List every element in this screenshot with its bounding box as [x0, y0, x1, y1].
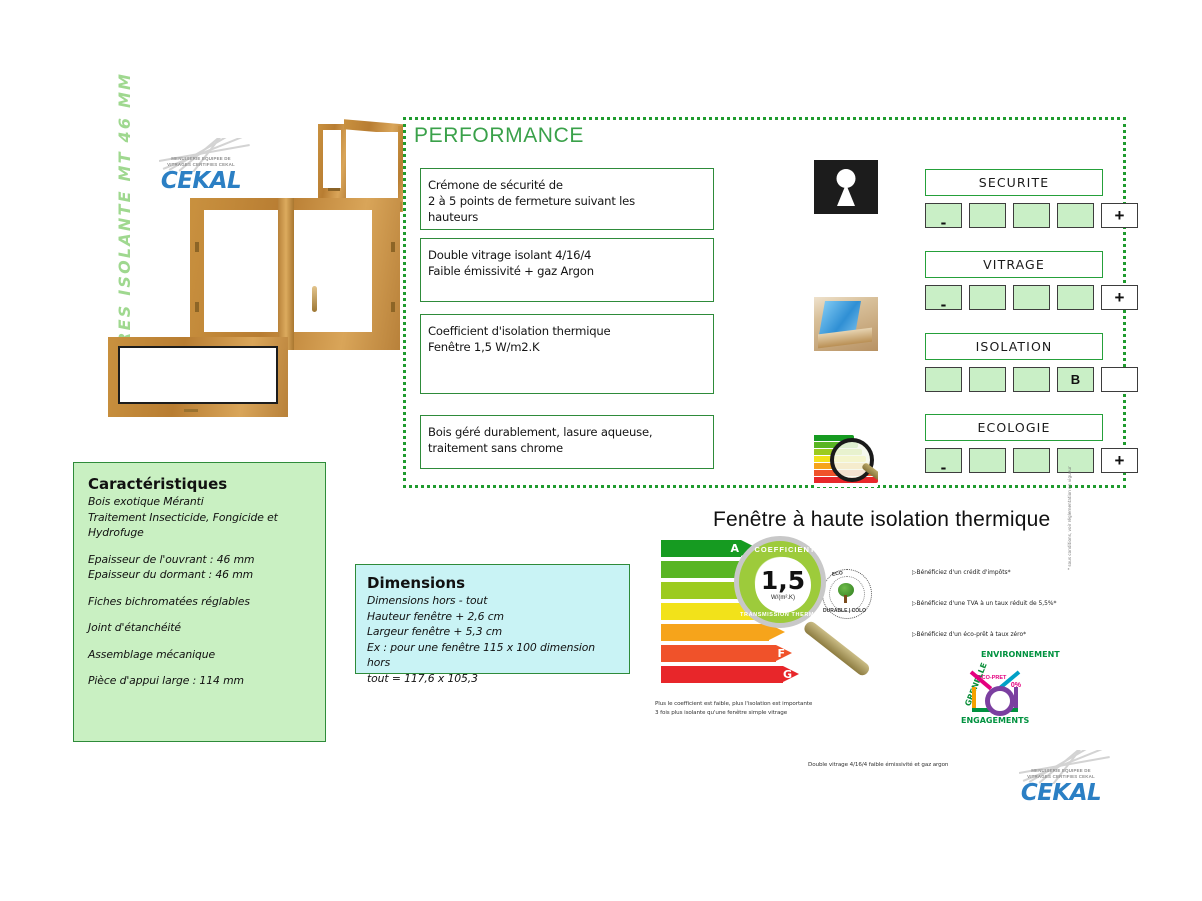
- rating-cell-grade-b[interactable]: B: [1057, 367, 1094, 392]
- energy-footnote-line2: 3 fois plus isolante qu'une fenêtre simp…: [655, 709, 905, 718]
- rating-cell[interactable]: [969, 367, 1006, 392]
- cekal-subtitle-line1: MENUISERIE EQUIPEE DE: [1031, 768, 1091, 773]
- dimensions-line: Hauteur fenêtre + 2,6 cm: [367, 609, 618, 625]
- rating-label-isolation: ISOLATION: [925, 333, 1103, 360]
- rating-cells-vitrage: - +: [925, 285, 1138, 310]
- perf-text-line: Coefficient d'isolation thermique: [428, 323, 707, 339]
- rating-cell[interactable]: [1057, 448, 1094, 473]
- coefficient-magnifier: COEFFICIENT TRANSMISSION THERMIQUE 1,5 W…: [734, 536, 826, 628]
- glazing-note: Double vitrage 4/16/4 faible émissivité …: [808, 762, 948, 768]
- perf-text-line: Double vitrage isolant 4/16/4: [428, 247, 707, 263]
- benefit-label: Bénéficiez d'un éco-prêt à taux zéro*: [917, 632, 1027, 638]
- rating-cell-plus[interactable]: +: [1101, 448, 1138, 473]
- benefit-item-eco-pret: ▷Bénéficiez d'un éco-prêt à taux zéro*: [912, 632, 1026, 638]
- caracteristiques-line: Hydrofuge: [88, 525, 311, 541]
- rating-cell[interactable]: [925, 367, 962, 392]
- energy-footnote: Plus le coefficient est faible, plus l'i…: [655, 700, 905, 718]
- cekal-wordmark: CEKAL: [1013, 780, 1109, 806]
- energy-arrow-e: [661, 624, 785, 641]
- perf-text-line: traitement sans chrome: [428, 440, 707, 456]
- window-glazing-icon: [814, 297, 878, 351]
- energy-footnote-line1: Plus le coefficient est faible, plus l'i…: [655, 700, 905, 709]
- eco-pret-percent: 0%: [1011, 682, 1021, 689]
- magnifier-handle-icon: [802, 619, 871, 677]
- energy-letter: F: [777, 645, 785, 662]
- cekal-subtitle-line2: VITRAGES CERTIFIES CEKAL: [1027, 774, 1095, 779]
- energy-magnifier-icon: [814, 433, 878, 487]
- caracteristiques-line: Epaisseur du dormant : 46 mm: [88, 567, 311, 583]
- rating-label-ecologie: ECOLOGIE: [925, 414, 1103, 441]
- perf-text-line: Fenêtre 1,5 W/m2.K: [428, 339, 707, 355]
- rating-cells-ecologie: - +: [925, 448, 1138, 473]
- benefit-item-tva: ▷Bénéficiez d'une TVA à un taux réduit d…: [912, 601, 1056, 607]
- rating-cell[interactable]: [1057, 203, 1094, 228]
- rating-cell-minus[interactable]: -: [925, 448, 962, 473]
- promo-title: Fenêtre à haute isolation thermique: [713, 508, 1050, 532]
- cekal-wordmark: CEKAL: [153, 168, 249, 194]
- benefit-label: Bénéficiez d'une TVA à un taux réduit de…: [917, 601, 1057, 607]
- rating-cell[interactable]: [1013, 367, 1050, 392]
- rating-cell-plus[interactable]: +: [1101, 285, 1138, 310]
- perf-text-line: 2 à 5 points de fermeture suivant les: [428, 193, 707, 209]
- rating-cell[interactable]: [1013, 203, 1050, 228]
- window-main-photo: [190, 198, 400, 350]
- energy-letter: G: [783, 666, 792, 683]
- keyhole-lock-icon: [814, 160, 878, 214]
- caracteristiques-line: Pièce d'appui large : 114 mm: [88, 673, 311, 689]
- caracteristiques-line: Epaisseur de l'ouvrant : 46 mm: [88, 552, 311, 568]
- grenelle-word-bottom: ENGAGEMENTS: [961, 716, 1029, 725]
- perf-text-line: Crémone de sécurité de: [428, 177, 707, 193]
- caracteristiques-panel: Caractéristiques Bois exotique Méranti T…: [73, 462, 326, 742]
- rating-cells-securite: - +: [925, 203, 1138, 228]
- cekal-subtitle-line2: VITRAGES CERTIFIES CEKAL: [167, 162, 235, 167]
- caracteristiques-line: Bois exotique Méranti: [88, 494, 311, 510]
- perf-text-line: Faible émissivité + gaz Argon: [428, 263, 707, 279]
- perf-text-line: hauteurs: [428, 209, 707, 225]
- rating-label-securite: SECURITE: [925, 169, 1103, 196]
- rating-label-vitrage: VITRAGE: [925, 251, 1103, 278]
- dimensions-line: tout = 117,6 x 105,3: [367, 671, 618, 687]
- cekal-subtitle-line1: MENUISERIE EQUIPEE DE: [171, 156, 231, 161]
- window-transom-photo: [108, 337, 288, 417]
- cekal-logo-footer: MENUISERIE EQUIPEE DE VITRAGES CERTIFIES…: [1005, 752, 1113, 810]
- energy-arrow-f: F: [661, 645, 792, 662]
- coefficient-readout: 1,5 W/(m².K): [755, 557, 811, 613]
- performance-title: PERFORMANCE: [414, 124, 584, 148]
- dimensions-line: Dimensions hors - tout: [367, 593, 618, 609]
- eco-pret-label: ECO-PRET: [978, 675, 1006, 681]
- rating-cell[interactable]: [969, 285, 1006, 310]
- energy-arrow-g: G: [661, 666, 799, 683]
- performance-box-bois: Bois géré durablement, lasure aqueuse, t…: [420, 415, 714, 469]
- grenelle-word-right: ENVIRONNEMENT: [981, 650, 1060, 659]
- caracteristiques-line: Joint d'étanchéité: [88, 620, 311, 636]
- rating-cell[interactable]: [1101, 367, 1138, 392]
- lens-arc-top-label: COEFFICIENT: [739, 545, 831, 554]
- coefficient-value: 1,5: [761, 569, 805, 593]
- rating-cell-minus[interactable]: -: [925, 285, 962, 310]
- benefits-side-note: * sous conditions, voir réglementation e…: [1067, 480, 1072, 570]
- rating-cell-minus[interactable]: -: [925, 203, 962, 228]
- dimensions-line: Largeur fenêtre + 5,3 cm: [367, 624, 618, 640]
- slide-canvas: FENETRES ISOLANTE MT 46 MM MENUISERIE EQ…: [0, 0, 1202, 901]
- cekal-logo: MENUISERIE EQUIPEE DE VITRAGES CERTIFIES…: [145, 140, 253, 198]
- perf-text-line: Bois géré durablement, lasure aqueuse,: [428, 424, 707, 440]
- rating-cell[interactable]: [1013, 448, 1050, 473]
- dimensions-title: Dimensions: [367, 574, 618, 592]
- rating-cell[interactable]: [969, 448, 1006, 473]
- caracteristiques-line: Assemblage mécanique: [88, 647, 311, 663]
- dimensions-line: Ex : pour une fenêtre 115 x 100 dimensio…: [367, 640, 618, 671]
- caracteristiques-line: Fiches bichromatées réglables: [88, 594, 311, 610]
- performance-box-cremone: Crémone de sécurité de 2 à 5 points de f…: [420, 168, 714, 230]
- grenelle-house-icon: ECO-PRET 0%: [971, 670, 1019, 712]
- rating-cell[interactable]: [1057, 285, 1094, 310]
- energy-rating-graphic: A F G COEFFICIENT: [661, 540, 821, 700]
- grenelle-environnement-logo: GRENELLE ENVIRONNEMENT ENGAGEMENTS ECO-P…: [951, 652, 1039, 732]
- caracteristiques-title: Caractéristiques: [88, 475, 311, 493]
- dimensions-panel: Dimensions Dimensions hors - tout Hauteu…: [355, 564, 630, 674]
- rating-cell-plus[interactable]: +: [1101, 203, 1138, 228]
- energy-letter: A: [730, 540, 739, 557]
- caracteristiques-line: Traitement Insecticide, Fongicide et: [88, 510, 311, 526]
- cekal-subtitle: MENUISERIE EQUIPEE DE VITRAGES CERTIFIES…: [151, 156, 251, 168]
- coefficient-unit: W/(m².K): [771, 595, 795, 601]
- rating-cells-isolation: B: [925, 367, 1138, 392]
- rating-cell[interactable]: [969, 203, 1006, 228]
- performance-box-vitrage: Double vitrage isolant 4/16/4 Faible émi…: [420, 238, 714, 302]
- performance-box-coefficient: Coefficient d'isolation thermique Fenêtr…: [420, 314, 714, 394]
- rating-cell[interactable]: [1013, 285, 1050, 310]
- benefit-label: Bénéficiez d'un crédit d'impôts*: [917, 570, 1011, 576]
- benefit-item-credit-impots: ▷Bénéficiez d'un crédit d'impôts*: [912, 570, 1011, 576]
- cekal-subtitle: MENUISERIE EQUIPEE DE VITRAGES CERTIFIES…: [1011, 768, 1111, 780]
